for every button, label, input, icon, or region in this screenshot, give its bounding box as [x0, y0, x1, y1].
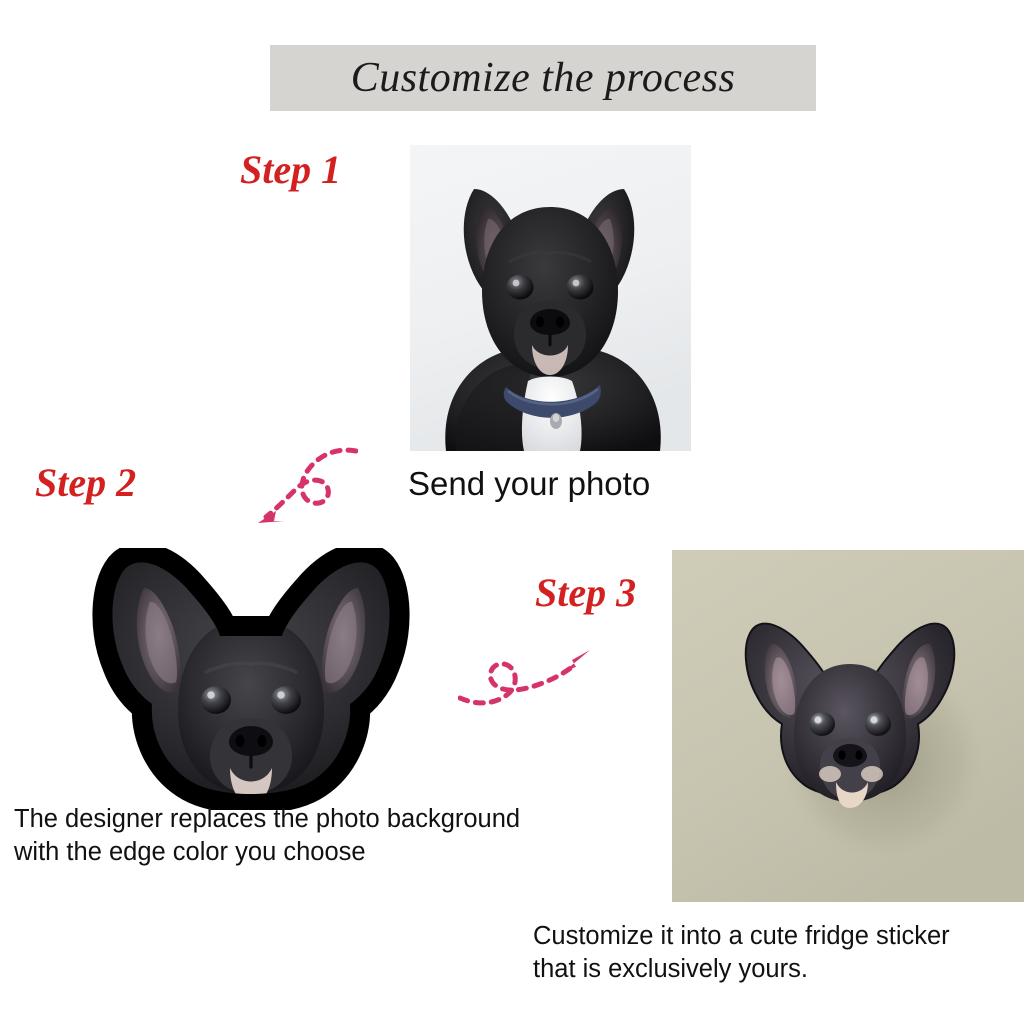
step-3-caption: Customize it into a cute fridge sticker …: [533, 920, 950, 985]
french-bulldog-photo-illustration: [410, 145, 691, 451]
fridge-sticker-photo-illustration: [672, 550, 1024, 902]
step-1-caption: Send your photo: [408, 463, 650, 505]
step-1-label: Step 1: [240, 150, 341, 190]
step-2-cutout: [88, 548, 414, 810]
page-title: Customize the process: [351, 57, 736, 99]
french-bulldog-cutout-illustration: [88, 548, 414, 810]
arrow-step2-to-step3: [458, 636, 598, 716]
step-3-label: Step 3: [535, 573, 636, 613]
dashed-loop-arrow-up-right-icon: [458, 636, 598, 716]
title-banner: Customize the process: [270, 45, 816, 111]
step-3-photo: [672, 550, 1024, 902]
dashed-loop-arrow-down-left-icon: [248, 443, 358, 527]
infographic-canvas: Customize the process Step 1: [0, 0, 1024, 1024]
arrow-step1-to-step2: [248, 443, 358, 527]
step-2-label: Step 2: [35, 463, 136, 503]
step-2-caption: The designer replaces the photo backgrou…: [14, 803, 520, 868]
step-1-photo: [410, 145, 691, 451]
